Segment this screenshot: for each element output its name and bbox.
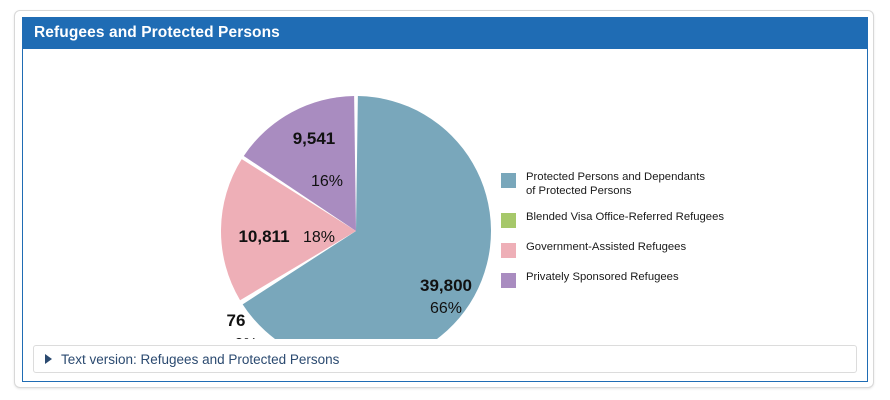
legend-item-protected-persons[interactable]: Protected Persons and Dependants of Prot… [501, 171, 801, 198]
legend-item-label: Blended Visa Office-Referred Refugees [526, 211, 724, 225]
legend-swatch-icon [501, 243, 516, 258]
legend-swatch-icon [501, 213, 516, 228]
card-body: 39,80066%760%10,81118%9,54116% Protected… [22, 49, 868, 382]
legend-item-label: Government-Assisted Refugees [526, 241, 686, 255]
slice-value-label: 9,541 [293, 129, 336, 148]
text-version-disclosure[interactable]: Text version: Refugees and Protected Per… [33, 345, 857, 373]
legend-item-label: Privately Sponsored Refugees [526, 271, 679, 285]
legend-item-privately-sponsored[interactable]: Privately Sponsored Refugees [501, 271, 801, 288]
text-version-label: Text version: Refugees and Protected Per… [61, 352, 339, 367]
legend-swatch-icon [501, 173, 516, 188]
chart-legend: Protected Persons and Dependants of Prot… [501, 171, 801, 301]
slice-percent-label: 0% [234, 336, 257, 339]
legend-item-government-assisted[interactable]: Government-Assisted Refugees [501, 241, 801, 258]
triangle-right-icon [45, 354, 52, 364]
slice-value-label: 39,800 [420, 276, 472, 295]
slice-percent-label: 16% [311, 173, 343, 190]
card-header: Refugees and Protected Persons [22, 17, 868, 49]
slice-percent-label: 66% [430, 300, 462, 317]
page-root: Refugees and Protected Persons 39,80066%… [0, 0, 890, 400]
figure-card: Refugees and Protected Persons 39,80066%… [14, 10, 874, 388]
slice-value-label: 76 [227, 311, 246, 330]
slice-percent-label: 18% [303, 229, 335, 246]
legend-item-blended-visa[interactable]: Blended Visa Office-Referred Refugees [501, 211, 801, 228]
chart-figure: 39,80066%760%10,81118%9,54116% Protected… [23, 49, 867, 339]
slice-value-label: 10,811 [238, 227, 289, 246]
pie-chart-svg: 39,80066%760%10,81118%9,54116% [33, 49, 503, 339]
page-title: Refugees and Protected Persons [34, 24, 280, 42]
legend-swatch-icon [501, 273, 516, 288]
legend-item-label: Protected Persons and Dependants of Prot… [526, 171, 705, 198]
